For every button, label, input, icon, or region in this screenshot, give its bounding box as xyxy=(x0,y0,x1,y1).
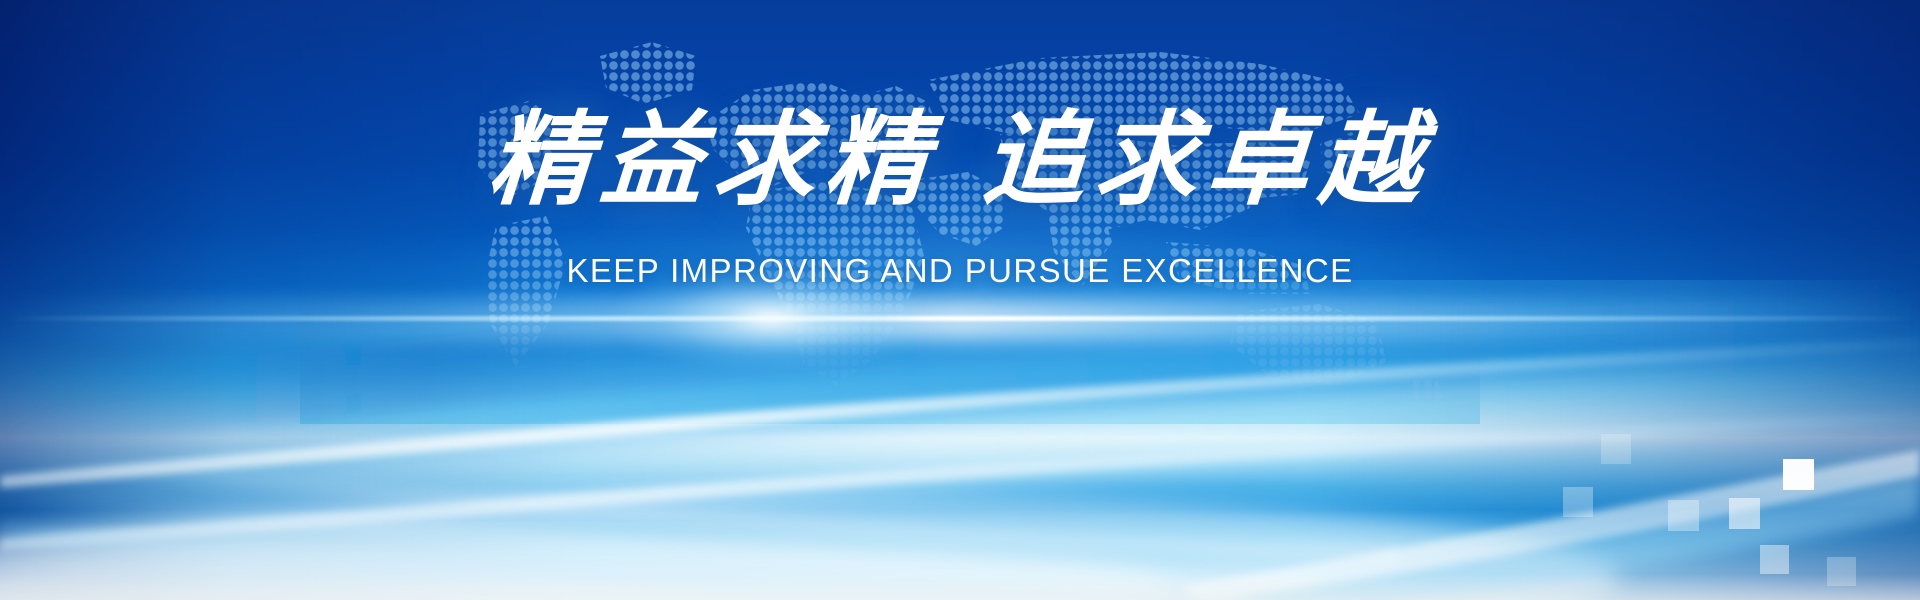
floating-square xyxy=(1563,487,1593,517)
floating-square xyxy=(1668,500,1699,531)
floating-square xyxy=(1601,434,1631,464)
floating-square xyxy=(1729,498,1760,529)
light-flare-hotspot xyxy=(550,243,990,393)
corporate-banner: 精益求精追求卓越 KEEP IMPROVING AND PURSUE EXCEL… xyxy=(0,0,1920,600)
floating-square xyxy=(1783,459,1814,490)
bottom-haze xyxy=(0,574,1920,600)
floating-square xyxy=(1760,545,1789,574)
